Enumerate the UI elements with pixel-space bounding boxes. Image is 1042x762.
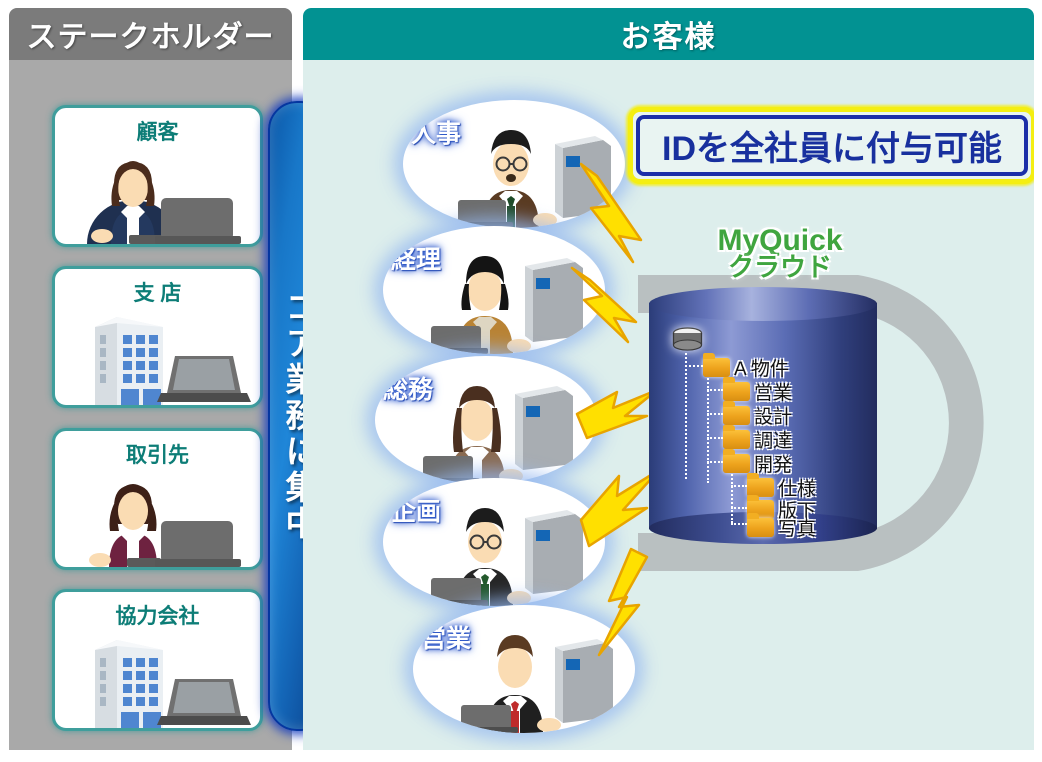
folder-tree: A 物件 営業 設計 調達 開発 仕様 版下 写真	[671, 327, 871, 532]
folder-icon	[723, 406, 750, 425]
tree-connector	[731, 485, 747, 487]
folder-row[interactable]: 写真	[747, 515, 816, 539]
customer-panel-header: お客様	[303, 8, 1034, 60]
department-label: 人事	[411, 114, 461, 150]
stakeholder-header-label: ステークホルダー	[27, 12, 275, 56]
folder-row[interactable]: 調達	[723, 427, 792, 451]
tree-connector	[731, 507, 747, 509]
stakeholder-card-branch[interactable]: 支 店	[52, 266, 263, 408]
cylinder-top-ellipse	[649, 287, 877, 321]
stakeholder-card-affiliate[interactable]: 協力会社	[52, 589, 263, 731]
database-icon	[671, 327, 704, 353]
department-label: 営業	[421, 619, 471, 655]
folder-row[interactable]: 開発	[723, 451, 792, 475]
folder-icon	[723, 382, 750, 401]
folder-icon	[723, 430, 750, 449]
woman-maroon-suit-laptop-illustration	[55, 463, 260, 567]
folder-name: 開発	[754, 450, 792, 477]
stakeholder-card-label: 取引先	[55, 439, 260, 469]
lightning-bolt-icon	[585, 543, 695, 663]
tree-connector	[685, 365, 703, 367]
stakeholder-card-label: 協力会社	[55, 600, 260, 630]
folder-name: 設計	[754, 402, 792, 429]
folder-row[interactable]: 設計	[723, 403, 792, 427]
customer-header-label: お客様	[621, 12, 717, 56]
stakeholder-panel: ステークホルダー 顧客 支 店	[9, 8, 292, 750]
department-general-affairs[interactable]: 総務	[375, 356, 597, 484]
folder-row[interactable]: 営業	[723, 379, 792, 403]
cloud-storage-cylinder: A 物件 営業 設計 調達 開発 仕様 版下 写真	[649, 287, 877, 545]
tree-connector	[707, 389, 723, 391]
folder-row[interactable]: A 物件	[703, 355, 789, 379]
stakeholder-card-partner[interactable]: 取引先	[52, 428, 263, 570]
folder-name: 調達	[754, 426, 792, 453]
office-building-laptop-illustration	[55, 301, 260, 405]
folder-icon	[747, 518, 774, 537]
callout-label: IDを全社員に付与可能	[662, 121, 1002, 170]
folder-name: A 物件	[734, 354, 789, 381]
folder-icon	[723, 454, 750, 473]
stakeholder-card-label: 支 店	[55, 277, 260, 307]
tree-connector	[731, 523, 747, 525]
tree-connector-trunk	[685, 353, 687, 479]
folder-name: 写真	[778, 514, 816, 541]
tree-connector	[707, 461, 723, 463]
cloud-title-line2: クラウド	[690, 254, 870, 280]
office-building-laptop-illustration	[55, 624, 260, 728]
woman-at-laptop-illustration	[55, 140, 260, 244]
department-label: 経理	[391, 240, 441, 276]
folder-icon	[703, 358, 730, 377]
stakeholder-panel-header: ステークホルダー	[9, 8, 292, 60]
tree-connector	[707, 413, 723, 415]
cloud-service-title: MyQuick クラウド	[690, 226, 870, 280]
tree-connector	[707, 437, 723, 439]
callout-inner-border: IDを全社員に付与可能	[636, 115, 1028, 176]
department-label: 総務	[383, 370, 433, 406]
id-assignment-callout: IDを全社員に付与可能	[628, 107, 1034, 184]
stakeholder-card-customer[interactable]: 顧客	[52, 105, 263, 247]
stakeholder-card-label: 顧客	[55, 116, 260, 146]
department-label: 企画	[391, 492, 441, 528]
folder-name: 営業	[754, 378, 792, 405]
tree-connector-branch	[707, 375, 709, 483]
tree-connector-branch	[731, 471, 733, 523]
folder-icon	[747, 478, 774, 497]
